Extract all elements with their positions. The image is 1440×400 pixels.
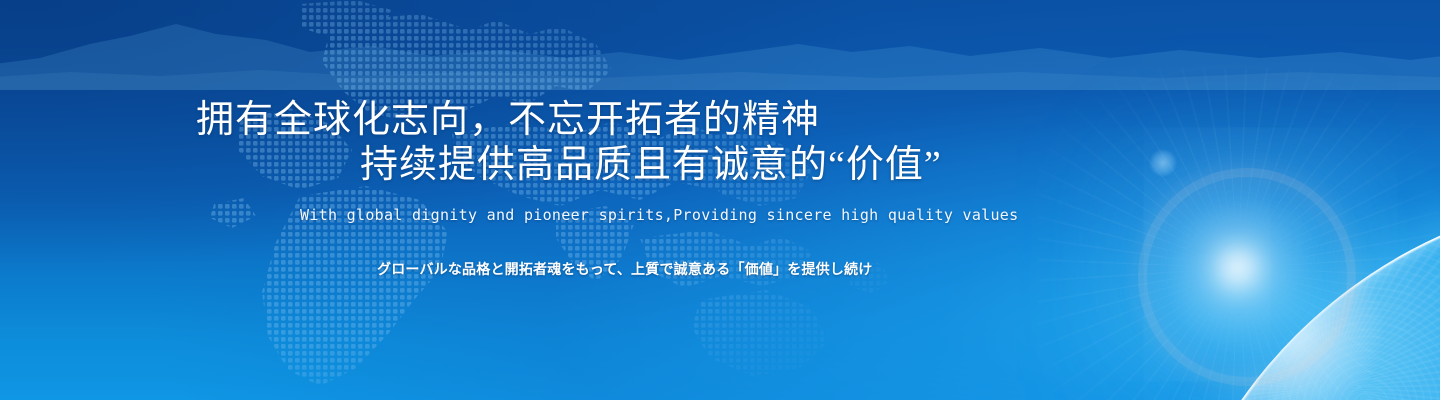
subtitle-english: With global dignity and pioneer spirits,… xyxy=(300,206,1018,224)
sun-halo-ring xyxy=(1138,168,1356,386)
headline-copy-block: 拥有全球化志向，不忘开拓者的精神 持续提供高品质且有诚意的“价值” With g… xyxy=(0,0,1060,400)
hero-banner: 拥有全球化志向，不忘开拓者的精神 持续提供高品质且有诚意的“价值” With g… xyxy=(0,0,1440,400)
lens-flare-dot xyxy=(1149,149,1177,177)
headline-line-2: 持续提供高品质且有诚意的“价值” xyxy=(360,133,942,188)
subtitle-japanese: グローバルな品格と開拓者魂をもって、上質で誠意ある「価値」を提供し続け xyxy=(377,259,872,279)
